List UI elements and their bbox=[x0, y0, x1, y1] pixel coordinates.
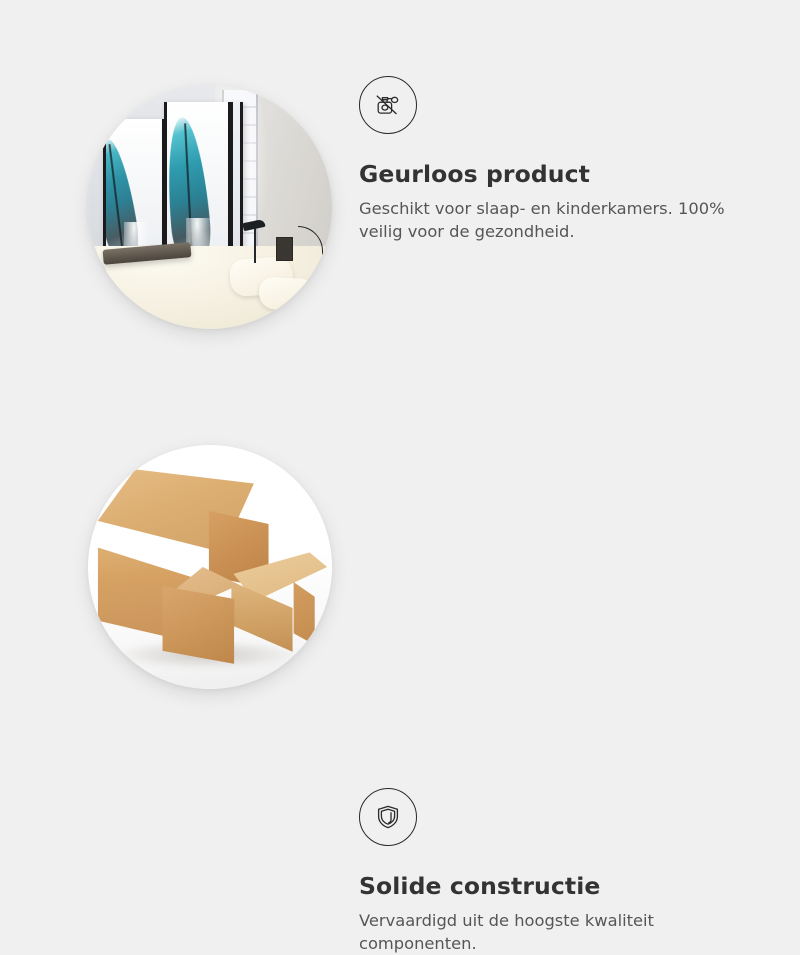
shield-glyph bbox=[372, 801, 404, 833]
feature-description: Geschikt voor slaap- en kinderkamers. 10… bbox=[359, 197, 751, 243]
feature-copy: Geurloos product Geschikt voor slaap- en… bbox=[359, 76, 759, 243]
feature-image-wooden-blocks bbox=[88, 445, 332, 689]
feature-list-page: Geurloos product Geschikt voor slaap- en… bbox=[0, 0, 800, 800]
wooden-blocks-photo bbox=[88, 445, 332, 689]
no-fragrance-glyph bbox=[371, 88, 405, 122]
feature-description: Vervaardigd uit de hoogste kwaliteit com… bbox=[359, 909, 751, 955]
feature-copy: Solide constructie Vervaardigd uit de ho… bbox=[359, 788, 759, 955]
feature-image-feather-canvas bbox=[88, 85, 332, 329]
feature-block-solide-constructie: Solide constructie Vervaardigd uit de ho… bbox=[0, 400, 800, 760]
floor-lamp-stem bbox=[254, 224, 256, 263]
no-fragrance-perfume-bottle-icon bbox=[359, 76, 417, 134]
feature-title: Geurloos product bbox=[359, 161, 759, 188]
shield-icon bbox=[359, 788, 417, 846]
feature-title: Solide constructie bbox=[359, 873, 759, 900]
picture-frame bbox=[276, 237, 293, 261]
bedroom-scene bbox=[88, 85, 332, 329]
wood-scene bbox=[88, 445, 332, 689]
feather-canvas-triptych-bedroom-photo bbox=[88, 85, 332, 329]
pillow bbox=[258, 276, 318, 311]
feature-block-geurloos-product: Geurloos product Geschikt voor slaap- en… bbox=[0, 40, 800, 400]
